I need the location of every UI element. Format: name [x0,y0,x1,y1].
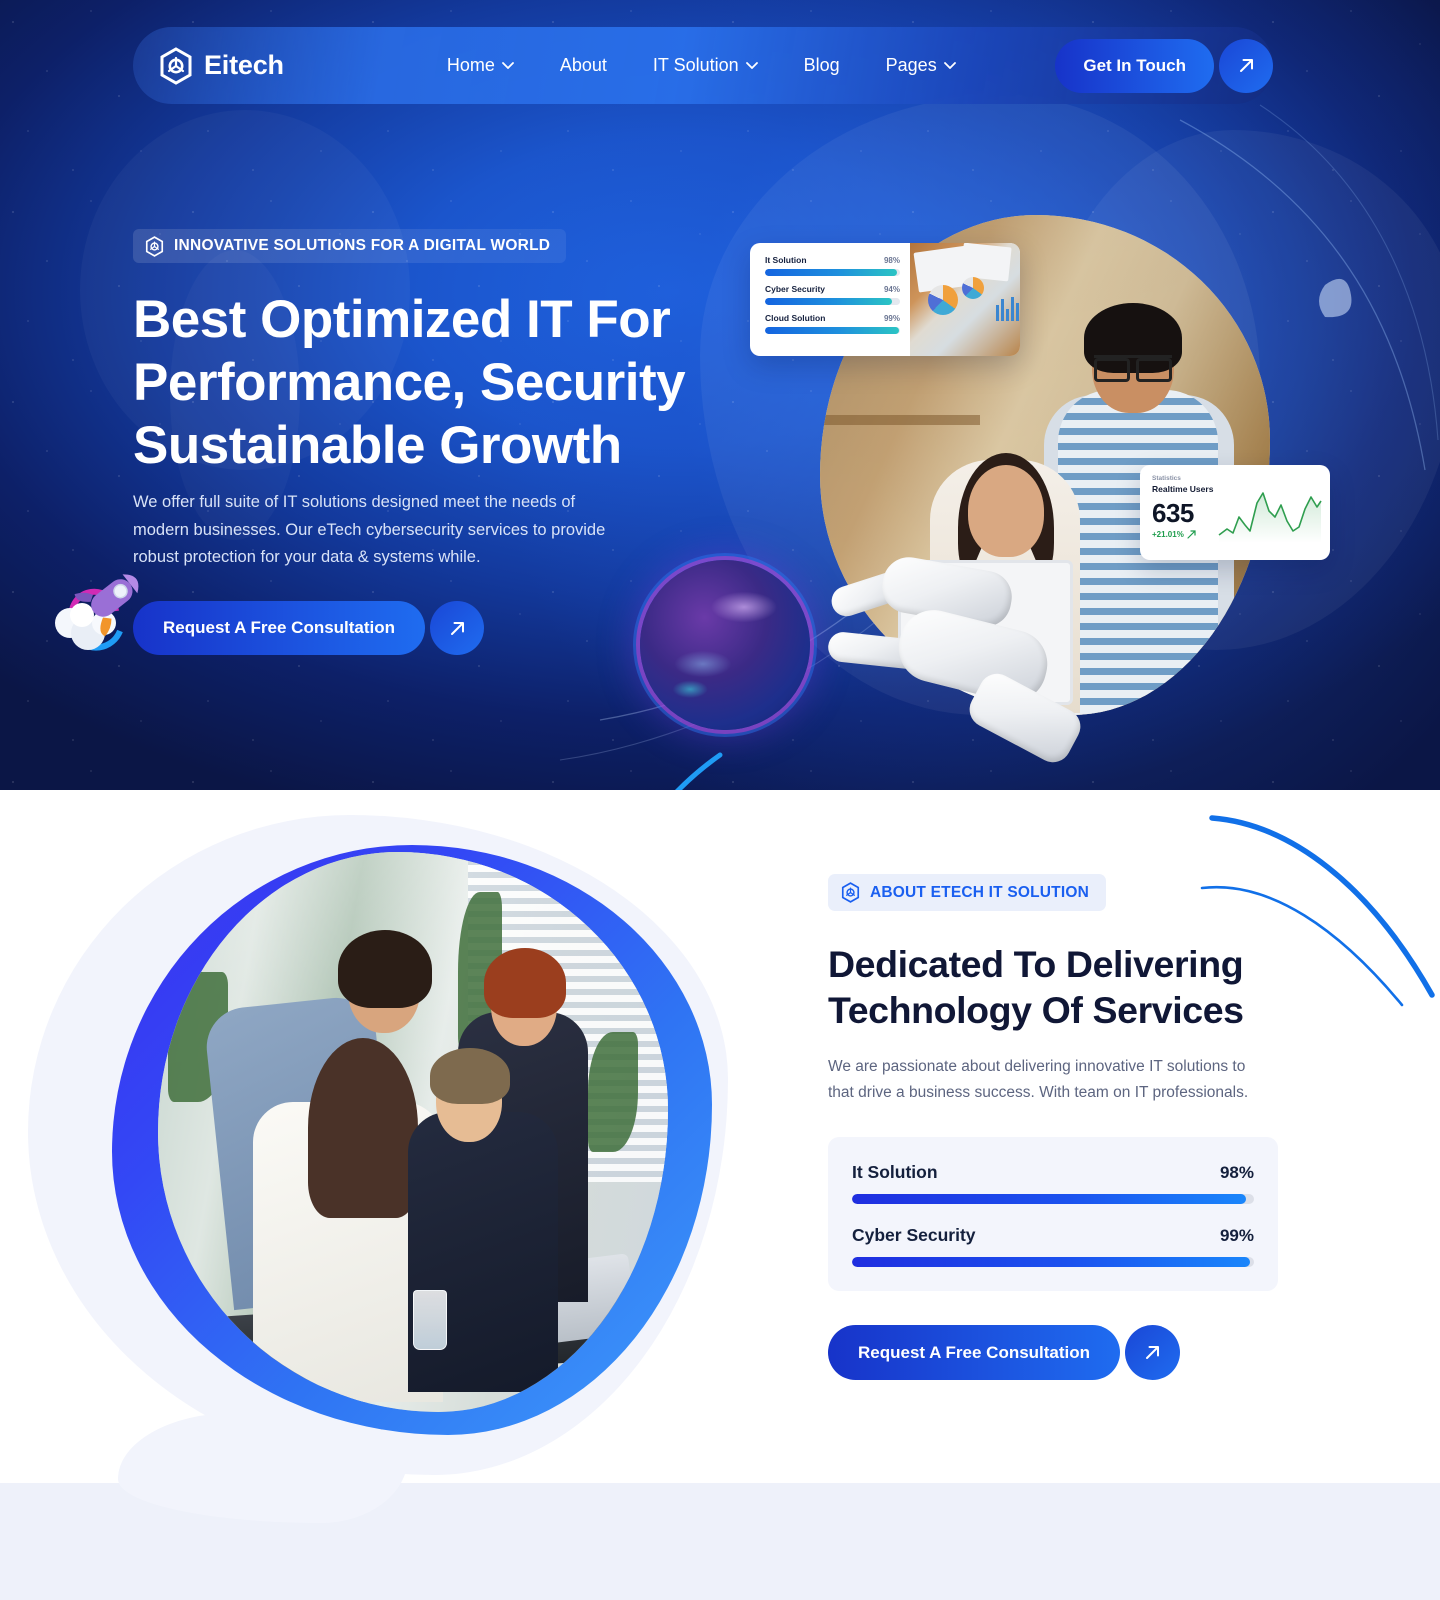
skill-percent: 98% [1220,1163,1254,1183]
skill-fill [765,327,899,334]
hero-section: Eitech Home About IT Solution Blog [0,0,1440,790]
get-in-touch-arrow-button[interactable] [1219,39,1273,93]
hexagon-logo-icon [159,47,193,85]
nav-links: Home About IT Solution Blog Pages [424,55,979,76]
shelf-line [820,415,980,425]
about-subtitle: We are passionate about delivering innov… [828,1054,1273,1105]
nav-item-label: Pages [886,55,937,76]
chevron-down-icon [944,62,956,69]
skill-track [852,1257,1254,1267]
person-foreground-suit [408,1112,558,1392]
about-request-consultation-arrow-button[interactable] [1125,1325,1180,1380]
hexagon-logo-icon [841,882,860,903]
hero-trail-lines [610,700,910,790]
skill-name: Cyber Security [765,284,825,294]
nav-item-label: About [560,55,607,76]
band-decorative-blob [118,1413,408,1523]
skill-name: Cloud Solution [765,313,825,323]
skill-fill [852,1194,1246,1204]
nav-item-it-solution[interactable]: IT Solution [630,55,781,76]
hexagon-logo-icon [145,236,164,257]
hero-request-consultation-button[interactable]: Request A Free Consultation [133,601,425,655]
person-hair [430,1048,510,1104]
skill-row: Cyber Security 99% [852,1225,1254,1267]
pie-chart-thumb [962,277,984,299]
about-badge: ABOUT ETECH IT SOLUTION [828,874,1106,911]
statistics-sparkline [1217,487,1322,545]
skill-name: It Solution [852,1162,938,1183]
office-plant [588,1032,638,1152]
landing-page: Eitech Home About IT Solution Blog [0,0,1440,1600]
hero-visual: It Solution 98% Cyber Security 94% [620,140,1400,790]
statistics-label: Statistics [1152,475,1318,482]
skill-fill [765,298,892,305]
about-title: Dedicated To Delivering Technology Of Se… [828,941,1288,1033]
glasses-icon [1094,355,1172,373]
about-cta-group: Request A Free Consultation [828,1325,1288,1380]
hero-skill-list: It Solution 98% Cyber Security 94% [750,243,910,356]
skill-percent: 99% [884,314,900,323]
arrow-up-right-icon [448,619,467,638]
skill-percent: 99% [1220,1226,1254,1246]
skill-track [765,327,900,334]
skill-fill [765,269,897,276]
hero-statistics-card: Statistics Realtime Users 635 +21.01% [1140,465,1330,560]
nav-item-about[interactable]: About [537,55,630,76]
nav-item-blog[interactable]: Blog [781,55,863,76]
hero-badge-label: INNOVATIVE SOLUTIONS FOR A DIGITAL WORLD [174,237,550,255]
bottom-band [0,1483,1440,1600]
about-section: ABOUT ETECH IT SOLUTION Dedicated To Del… [0,790,1440,1483]
about-badge-label: ABOUT ETECH IT SOLUTION [870,884,1089,902]
nav-cta-group: Get In Touch [1055,39,1273,93]
nav-item-pages[interactable]: Pages [863,55,979,76]
hero-cta-group: Request A Free Consultation [133,601,484,655]
nav-item-label: IT Solution [653,55,739,76]
brand-logo[interactable]: Eitech [159,47,284,85]
skill-row: It Solution 98% [765,255,900,276]
skill-track [852,1194,1254,1204]
skill-track [765,269,900,276]
nav-item-home[interactable]: Home [424,55,537,76]
skill-row: Cloud Solution 99% [765,313,900,334]
skill-row: Cyber Security 94% [765,284,900,305]
about-request-consultation-button[interactable]: Request A Free Consultation [828,1325,1120,1380]
bar-chart-thumb [996,295,1020,321]
skill-track [765,298,900,305]
hero-badge: INNOVATIVE SOLUTIONS FOR A DIGITAL WORLD [133,229,566,263]
hero-skill-card-photo [910,243,1020,356]
about-team-photo [158,852,668,1412]
hero-request-consultation-arrow-button[interactable] [430,601,484,655]
about-content: ABOUT ETECH IT SOLUTION Dedicated To Del… [828,874,1288,1380]
get-in-touch-button[interactable]: Get In Touch [1055,39,1214,93]
person-hair [484,948,566,1018]
main-navbar: Eitech Home About IT Solution Blog [133,27,1273,104]
chevron-down-icon [502,62,514,69]
skill-percent: 94% [884,285,900,294]
hero-subtitle: We offer full suite of IT solutions desi… [133,489,613,572]
skill-name: Cyber Security [852,1225,976,1246]
person-hair [308,1038,418,1218]
skill-percent: 98% [884,256,900,265]
arrow-up-right-icon [1237,56,1256,75]
person-hair [338,930,432,1008]
chevron-down-icon [746,62,758,69]
document-thumb [960,243,1011,281]
pie-chart-thumb [928,285,958,315]
statistics-delta-value: +21.01% [1152,530,1184,539]
hero-skill-card: It Solution 98% Cyber Security 94% [750,243,1020,356]
skill-row: It Solution 98% [852,1162,1254,1204]
skill-name: It Solution [765,255,807,265]
nav-item-label: Blog [804,55,840,76]
brand-name: Eitech [204,50,284,81]
rocket-graphic [40,565,170,675]
nav-item-label: Home [447,55,495,76]
about-skills-card: It Solution 98% Cyber Security 99% [828,1137,1278,1291]
water-glass [413,1290,447,1350]
arrow-up-right-icon [1143,1343,1162,1362]
trend-up-icon [1187,530,1196,539]
skill-fill [852,1257,1250,1267]
